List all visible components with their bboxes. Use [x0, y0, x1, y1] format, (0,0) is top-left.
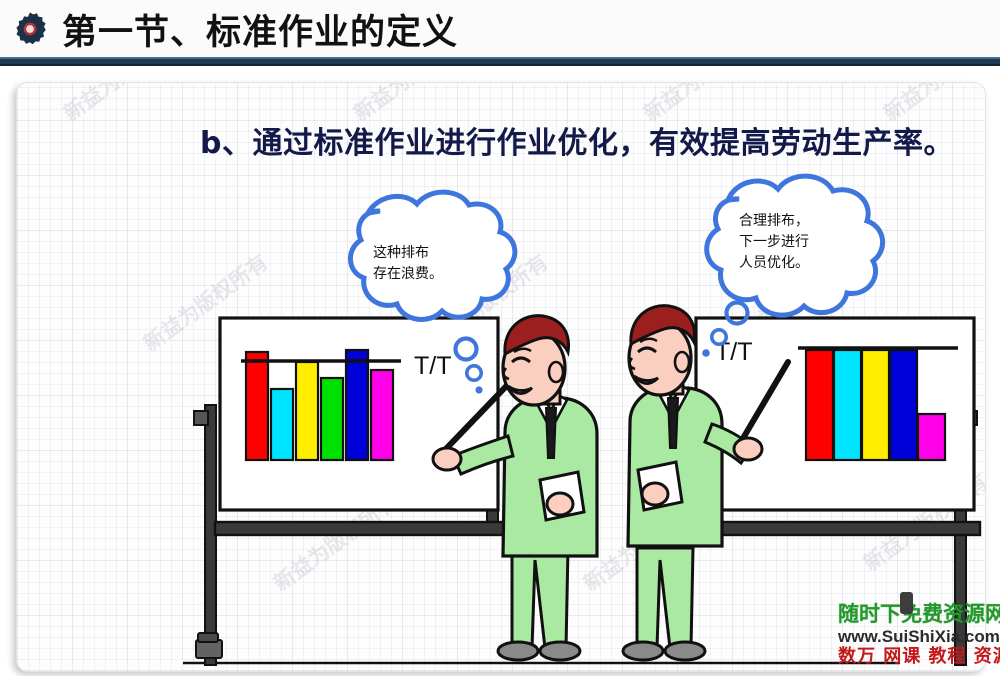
bubble-line-right-1: 合理排布，	[739, 213, 809, 229]
board-foot-cap	[198, 633, 218, 642]
bar-1	[246, 352, 268, 460]
ear	[549, 362, 563, 382]
legs	[637, 548, 693, 648]
tie	[546, 408, 556, 458]
tt-label-left: T/T	[414, 352, 452, 380]
board-tray-right	[690, 522, 980, 535]
bar-2	[834, 350, 861, 460]
site-watermark-logo: 随时下免费资源网 www.SuiShiXia.com 数万 网课 教程 资源	[838, 604, 994, 672]
bar-4	[890, 350, 917, 460]
illustration-scene: T/T 这种排布 存在浪费。 T/T	[0, 0, 1000, 676]
shoe-left	[498, 642, 538, 660]
tie	[668, 398, 678, 448]
hand-pointing	[734, 438, 762, 460]
shoe-right	[540, 642, 580, 660]
bubble-line-left-2: 存在浪费。	[373, 266, 443, 282]
shoe-left	[623, 642, 663, 660]
shoe-right	[665, 642, 705, 660]
hand-pointing	[433, 448, 461, 470]
hand-holding	[642, 483, 668, 505]
bubble-line-left-1: 这种排布	[373, 244, 429, 261]
bar-2	[271, 389, 293, 460]
bubble-line-right-2: 下一步进行	[739, 234, 809, 250]
bar-4	[321, 378, 343, 460]
bar-3	[296, 362, 318, 460]
bar-5	[346, 350, 368, 460]
board-leg-knob	[194, 411, 208, 425]
logo-site-name: 随时下免费资源网	[838, 604, 994, 625]
bubble-line-right-3: 人员优化。	[739, 255, 809, 271]
hand-holding	[547, 493, 573, 515]
bar-6	[371, 370, 393, 460]
bar-1	[806, 350, 833, 460]
legs	[512, 548, 568, 648]
thought-bubble-left: 这种排布 存在浪费。	[350, 192, 514, 319]
whiteboard-left: T/T	[194, 318, 505, 665]
board-tray-left	[215, 522, 505, 535]
thought-dot-small	[702, 349, 710, 357]
thought-bubble-right: 合理排布， 下一步进行 人员优化。	[707, 176, 883, 315]
logo-site-url: www.SuiShiXia.com	[838, 628, 994, 645]
logo-tagline: 数万 网课 教程 资源	[838, 648, 994, 666]
thought-dot-small	[475, 386, 482, 393]
microphone-icon	[900, 592, 913, 614]
bar-3	[862, 350, 889, 460]
ear	[675, 352, 689, 372]
bar-5	[918, 414, 945, 460]
